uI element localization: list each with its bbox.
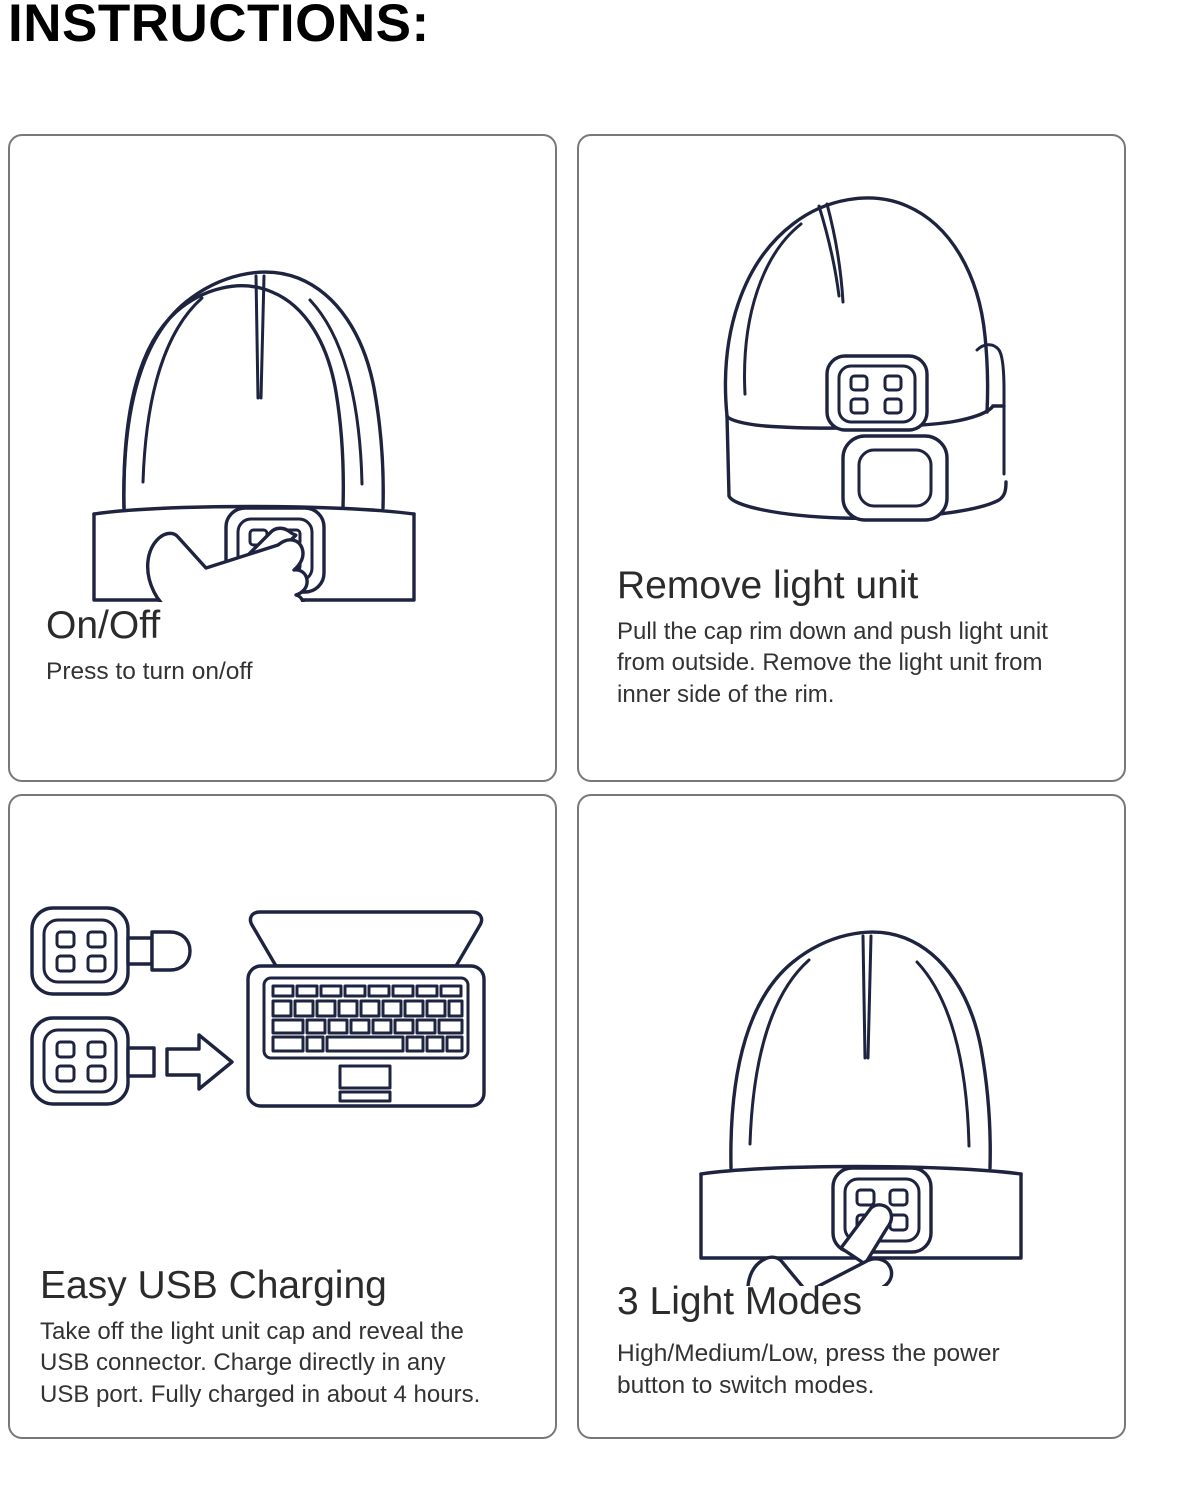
- panel-text-modes: 3 Light Modes High/Medium/Low, press the…: [617, 1280, 1100, 1402]
- light-unit-icon: [827, 356, 927, 430]
- panel-text-remove: Remove light unit Pull the cap rim down …: [617, 564, 1100, 711]
- instructions-page: INSTRUCTIONS:: [0, 0, 1184, 1496]
- page-title: INSTRUCTIONS:: [8, 0, 430, 52]
- beanie-modes-illustration: [579, 816, 1124, 1286]
- panel-text-usb: Easy USB Charging Take off the light uni…: [40, 1264, 531, 1411]
- panel-heading: 3 Light Modes: [617, 1280, 1100, 1324]
- panel-heading: On/Off: [46, 604, 531, 648]
- panel-on-off: On/Off Press to turn on/off: [8, 134, 557, 782]
- panel-text-on-off: On/Off Press to turn on/off: [46, 604, 531, 688]
- arrow-right-icon: [167, 1035, 232, 1089]
- beanie-press-illustration: [10, 152, 555, 602]
- light-unit-with-cap-icon: [32, 908, 190, 994]
- usb-charging-illustration: [10, 896, 555, 1126]
- panel-body: Take off the light unit cap and reveal t…: [40, 1316, 531, 1411]
- panel-heading: Easy USB Charging: [40, 1264, 531, 1308]
- panel-body: High/Medium/Low, press the power button …: [617, 1338, 1100, 1403]
- panel-usb-charging: Easy USB Charging Take off the light uni…: [8, 794, 557, 1439]
- panel-light-modes: 3 Light Modes High/Medium/Low, press the…: [577, 794, 1126, 1439]
- light-unit-slot-icon: [843, 436, 947, 520]
- instruction-panel-grid: On/Off Press to turn on/off: [8, 134, 1126, 1439]
- light-unit-usb-connector-icon: [32, 1018, 154, 1104]
- panel-body: Press to turn on/off: [46, 656, 531, 688]
- panel-body: Pull the cap rim down and push light uni…: [617, 616, 1100, 711]
- laptop-icon: [248, 912, 484, 1106]
- panel-remove-light-unit: Remove light unit Pull the cap rim down …: [577, 134, 1126, 782]
- panel-heading: Remove light unit: [617, 564, 1100, 608]
- beanie-remove-illustration: [579, 144, 1124, 554]
- pointing-hand-icon: [748, 1205, 895, 1286]
